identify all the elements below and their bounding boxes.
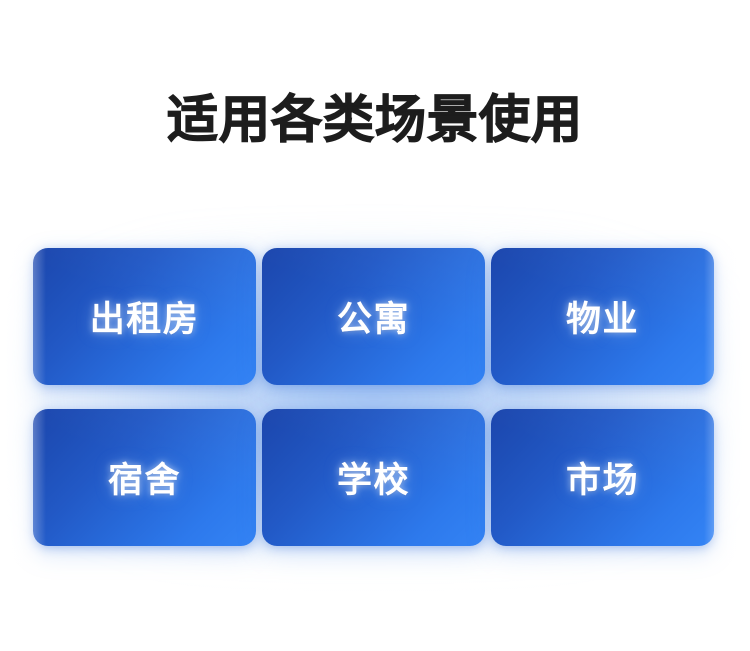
scene-card-school[interactable]: 学校 [262,409,485,546]
scene-card-label: 市场 [566,452,639,503]
scene-card-label: 物业 [566,291,639,342]
page-title-container: 适用各类场景使用 [0,92,750,148]
page-title: 适用各类场景使用 [167,92,583,148]
scene-showcase-page: 适用各类场景使用 出租房 公寓 物业 宿舍 学校 市场 [0,0,750,651]
scene-card-rental-room[interactable]: 出租房 [33,248,256,385]
scene-card-label: 出租房 [90,291,200,342]
scene-card-label: 公寓 [337,291,410,342]
scene-card-apartment[interactable]: 公寓 [262,248,485,385]
scene-card-label: 学校 [337,452,410,503]
scene-card-label: 宿舍 [108,452,181,503]
bottom-edge-fade [0,546,750,651]
scene-card-grid: 出租房 公寓 物业 宿舍 学校 市场 [33,248,714,546]
scene-card-dormitory[interactable]: 宿舍 [33,409,256,546]
scene-card-property-management[interactable]: 物业 [491,248,714,385]
scene-card-market[interactable]: 市场 [491,409,714,546]
